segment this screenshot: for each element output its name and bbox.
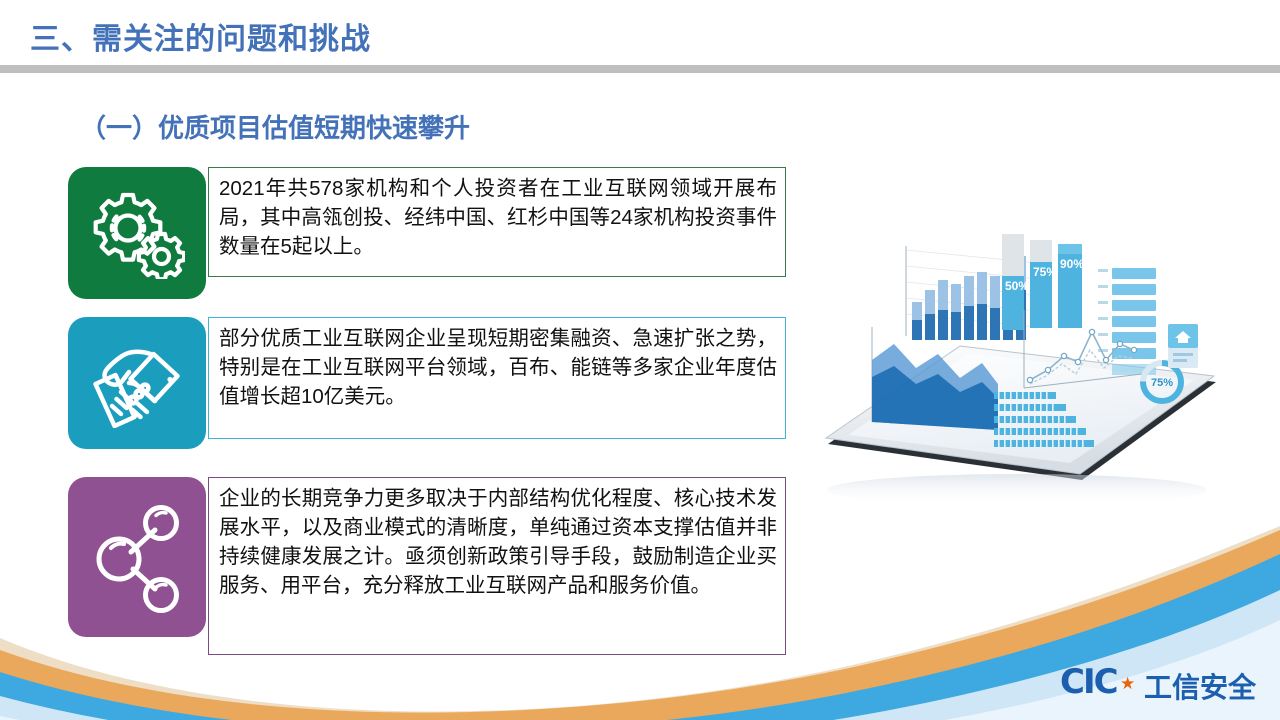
- logo-mark-cic: CIC: [1060, 662, 1117, 702]
- gears-icon: [89, 187, 185, 279]
- tablet-data-visualization-illustration: 50% 75% 90%: [812, 232, 1232, 512]
- block-2-icon-tile: [68, 317, 206, 449]
- handshake-icon: [85, 338, 189, 428]
- page-title: 三、需关注的问题和挑战: [30, 14, 371, 58]
- brand-logo: CIC ★ 工信安全: [1060, 662, 1260, 706]
- block-1-text: 2021年共578家机构和个人投资者在工业互联网领域开展布局，其中高瓴创投、经纬…: [208, 167, 786, 277]
- block-1-icon-tile: [68, 167, 206, 299]
- section-heading: （一）优质项目估值短期快速攀升: [80, 108, 470, 145]
- hero-label-75: 75%: [1033, 265, 1057, 279]
- hero-gauge-label: 75%: [1151, 377, 1173, 389]
- block-2-text: 部分优质工业互联网企业呈现短期密集融资、急速扩张之势，特别是在工业互联网平台领域…: [208, 317, 786, 439]
- logo-company-name: 工信安全: [1144, 666, 1256, 706]
- hero-label-50: 50%: [1005, 279, 1029, 293]
- logo-star-icon: ★: [1120, 675, 1135, 692]
- slide-canvas: 三、需关注的问题和挑战 （一）优质项目估值短期快速攀升 2021年共578家机构…: [0, 0, 1280, 720]
- title-divider: [0, 65, 1280, 73]
- hero-label-90: 90%: [1060, 257, 1084, 271]
